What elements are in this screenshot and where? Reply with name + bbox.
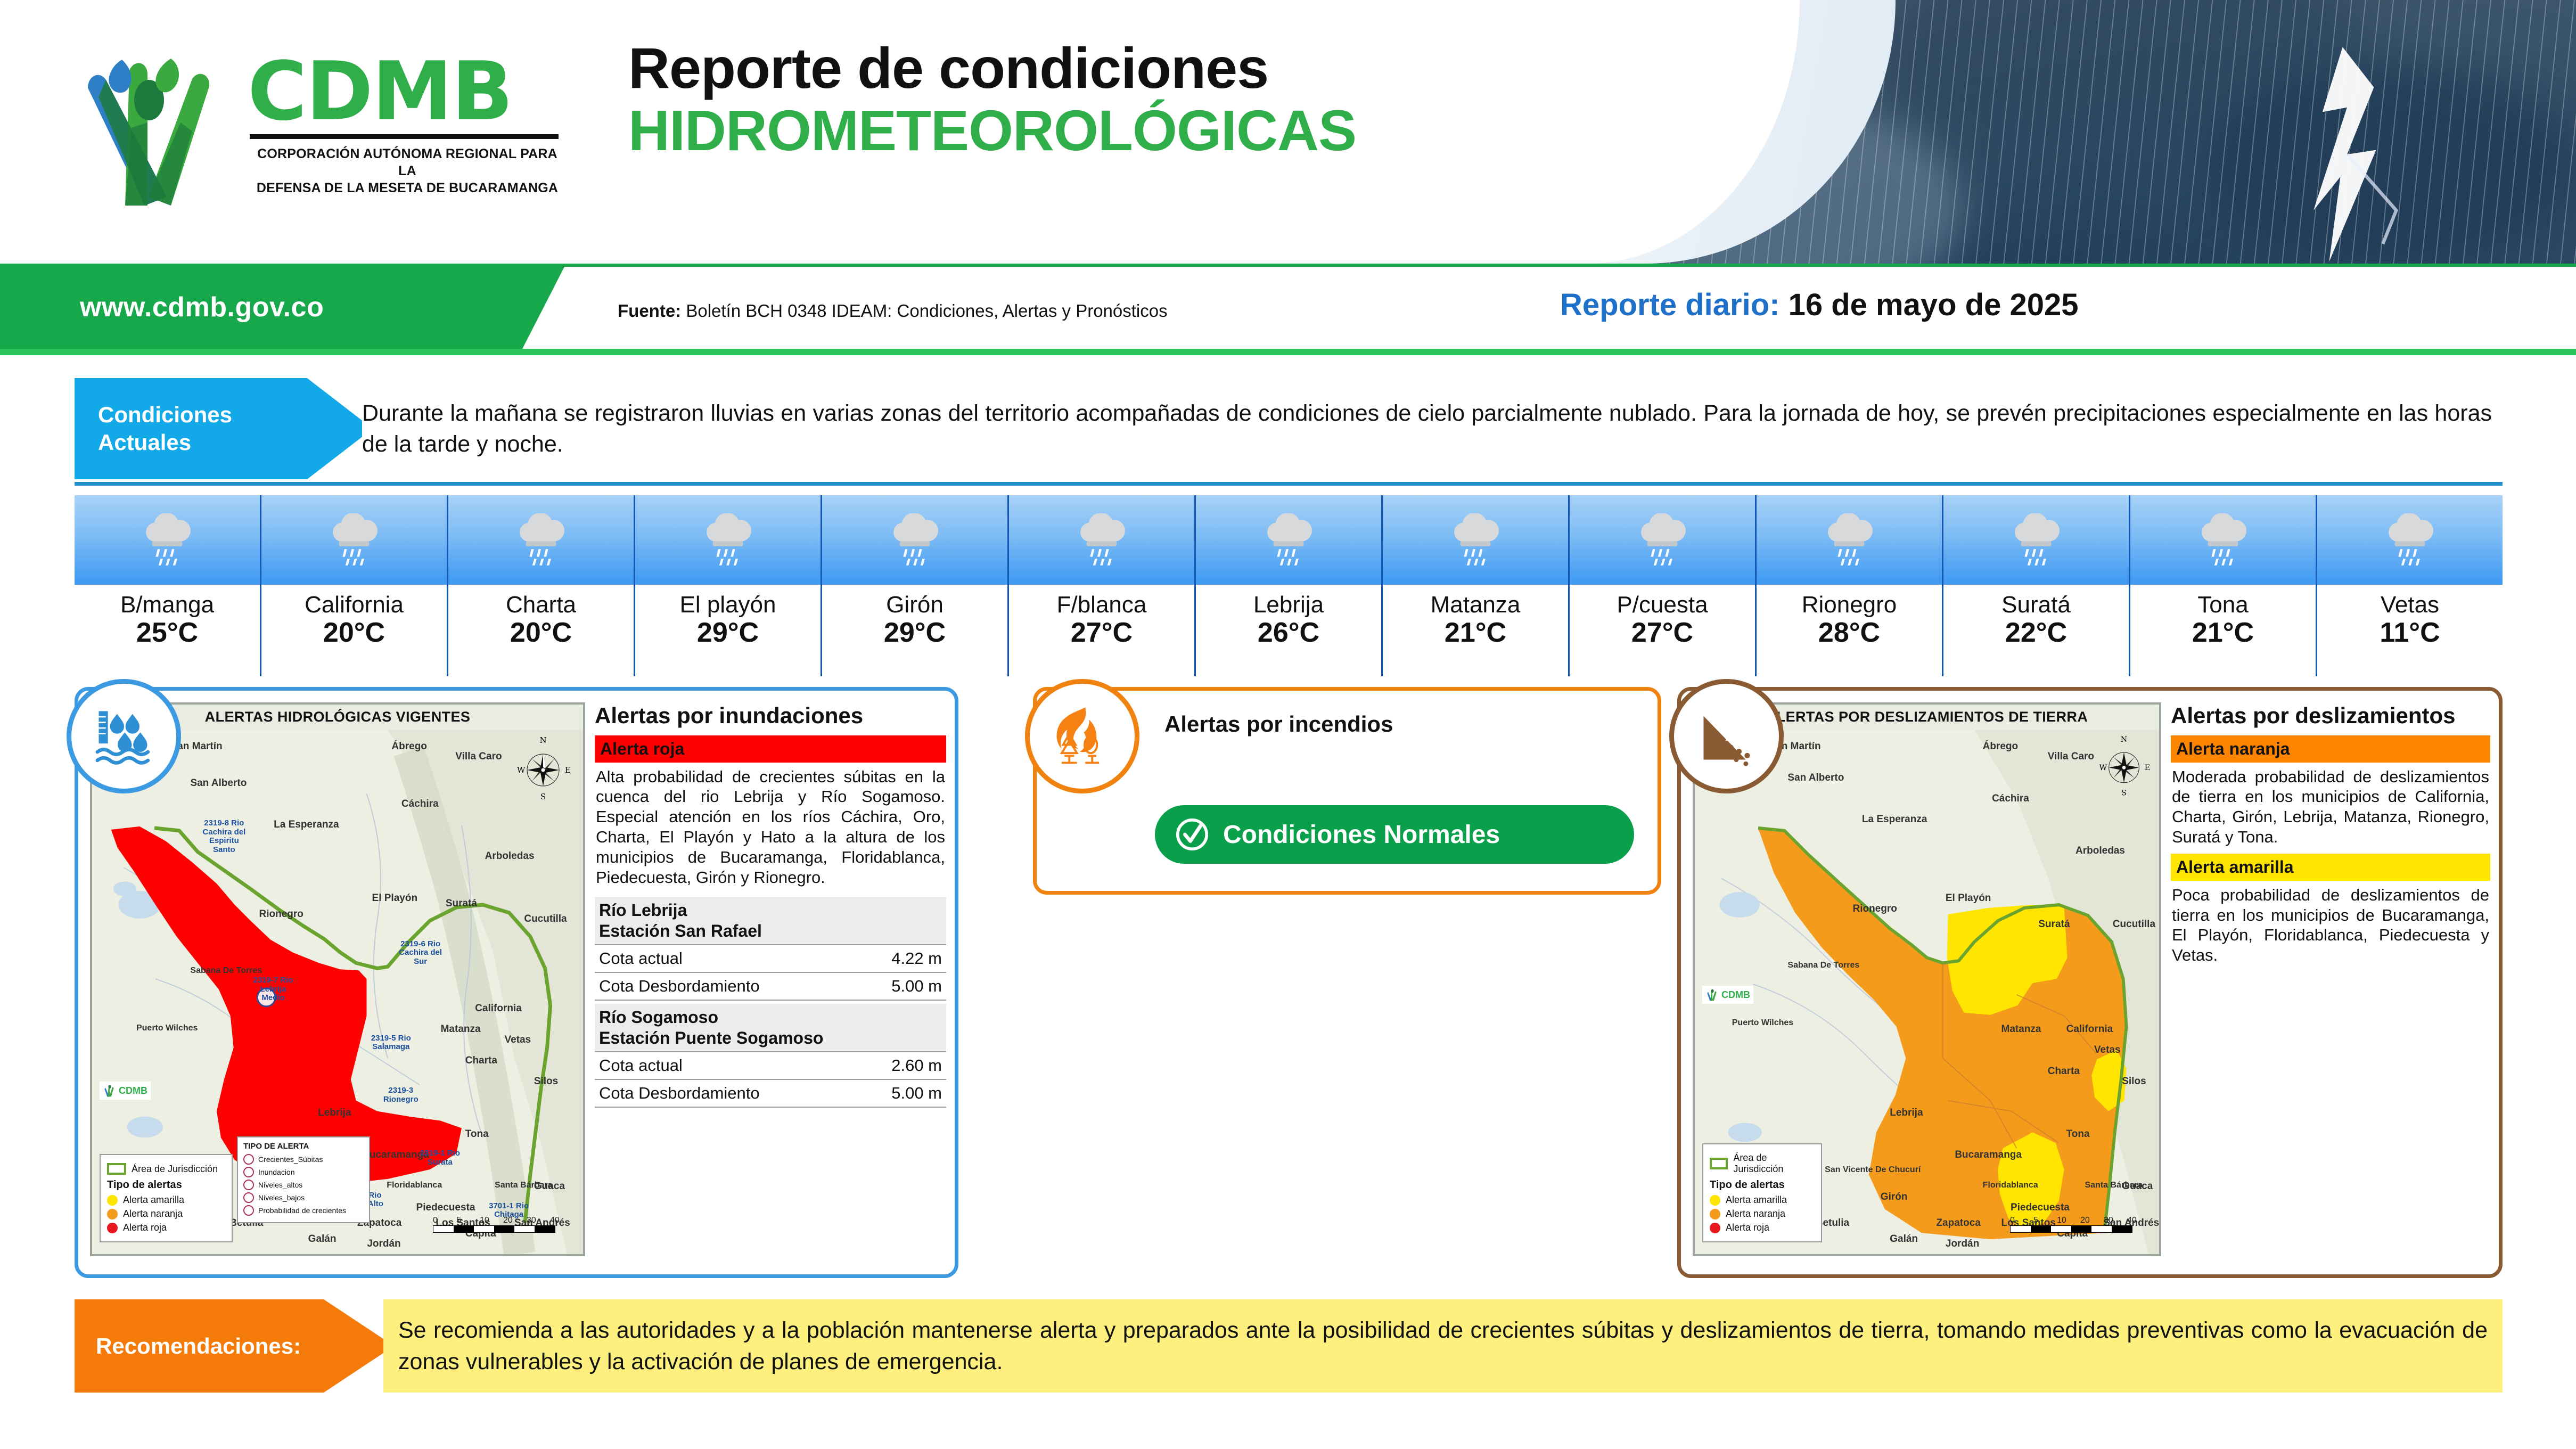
alert-symbol-label: Probabilidad de crecientes — [258, 1206, 346, 1215]
map-place-label: Jordán — [367, 1238, 400, 1250]
map-place-label: California — [2066, 1024, 2113, 1035]
weather-cell-vetas: Vetas11°C — [2317, 495, 2503, 676]
river-measure-value: 5.00 m — [891, 977, 942, 996]
check-circle-icon — [1174, 816, 1210, 853]
river-block: Río SogamosoEstación Puente SogamosoCota… — [595, 1004, 946, 1108]
scalebar-tick: 40 — [550, 1216, 573, 1225]
legend-jurisdiction-row: Área de Jurisdicción — [107, 1163, 225, 1175]
map-place-label: San Vicente De Chucurí — [1825, 1165, 1921, 1175]
legend-types-title: Tipo de alertas — [107, 1179, 225, 1191]
legend-alert-type-label: Alerta roja — [123, 1222, 167, 1233]
map-place-label: Puerto Wilches — [136, 1024, 198, 1033]
alert-type-title: TIPO DE ALERTA — [243, 1142, 364, 1151]
map-place-label: Cucutilla — [524, 913, 567, 925]
landslide-panel-title: Alertas por deslizamientos — [2171, 702, 2490, 729]
forest-fire-icon — [1025, 679, 1139, 793]
map-place-label: Ábrego — [1983, 741, 2019, 752]
weather-city-name: Matanza — [1383, 585, 1568, 618]
source-text: Boletín BCH 0348 IDEAM: Condiciones, Ale… — [686, 301, 1167, 321]
river-name: Río Lebrija — [599, 900, 942, 920]
scalebar-tick: 20 — [2080, 1216, 2104, 1225]
map-place-label: Galán — [1890, 1233, 1918, 1245]
map-place-label: Galán — [308, 1233, 337, 1245]
landslide-map-legend: Área de Jurisdicción Tipo de alertas Ale… — [1702, 1143, 1822, 1242]
current-conditions-tab: Condiciones Actuales — [75, 378, 373, 479]
weather-temperature: 28°C — [1757, 618, 1942, 648]
river-name-station: Río LebrijaEstación San Rafael — [595, 897, 946, 944]
report-date-line: Reporte diario: 16 de mayo de 2025 — [1560, 287, 2079, 323]
legend-color-dot-icon — [1710, 1209, 1720, 1219]
map-place-label: Sabana De Torres — [190, 966, 262, 976]
map-place-label: Suratá — [2038, 919, 2070, 930]
weather-temperature: 27°C — [1009, 618, 1194, 648]
weather-temperature: 11°C — [2317, 618, 2503, 648]
rain-cloud-icon — [448, 495, 634, 585]
map-place-label: Jordán — [1946, 1238, 1979, 1250]
current-conditions-text: Durante la mañana se registraron lluvias… — [362, 398, 2503, 460]
map-place-label: Villa Caro — [2048, 751, 2094, 763]
legend-alert-type-label: Alerta amarilla — [1726, 1194, 1787, 1206]
weather-cell-gir-n: Girón29°C — [822, 495, 1009, 676]
page-header: CDMB CORPORACIÓN AUTÓNOMA REGIONAL PARA … — [0, 0, 2576, 264]
alert-symbol-icon — [243, 1192, 254, 1203]
report-title: Reporte de condiciones HIDROMETEOROLÓGIC… — [628, 37, 1356, 161]
legend-alert-type-label: Alerta roja — [1726, 1222, 1769, 1233]
scalebar-tick: 30 — [2104, 1216, 2127, 1225]
legend-alert-type-label: Alerta naranja — [123, 1208, 183, 1219]
landslide-alert-card: ALERTAS POR DESLIZAMIENTOS DE TIERRA — [1677, 687, 2503, 1278]
map-river-label: 2319-7 Rio Lebrija Medio — [249, 976, 297, 1003]
recommendations-tab-label: Recomendaciones: — [96, 1333, 301, 1359]
map-river-label: 2319-5 Rio Salamaga — [367, 1034, 415, 1052]
svg-text:E: E — [2145, 764, 2150, 772]
weather-temperature: 21°C — [2130, 618, 2316, 648]
weather-city-name: Suratá — [1943, 585, 2129, 618]
current-conditions-section: Condiciones Actuales Durante la mañana s… — [75, 378, 2503, 479]
map-place-label: Matanza — [441, 1024, 481, 1035]
map-place-label: Bucaramanga — [1955, 1149, 2022, 1161]
map-place-label: El Playón — [1946, 893, 1991, 904]
cdmb-logo-mark-icon — [67, 37, 242, 213]
source-label: Fuente: — [618, 301, 681, 321]
current-conditions-tab-line1: Condiciones — [98, 401, 373, 429]
rain-cloud-icon — [75, 495, 260, 585]
scalebar-bar — [433, 1225, 555, 1233]
river-levels-table: Río LebrijaEstación San RafaelCota actua… — [595, 897, 946, 1108]
map-place-label: Piedecuesta — [416, 1202, 475, 1214]
map-place-label: El Playón — [372, 893, 418, 904]
map-place-label: San Alberto — [190, 777, 247, 789]
current-conditions-body: Durante la mañana se registraron lluvias… — [362, 378, 2503, 479]
weather-temperature: 29°C — [822, 618, 1007, 648]
weather-temperature: 25°C — [75, 618, 260, 648]
map-place-label: La Esperanza — [1862, 814, 1927, 825]
alert-symbol-icon — [243, 1154, 254, 1165]
flood-alert-level-badge: Alerta roja — [595, 735, 946, 763]
rain-cloud-icon — [822, 495, 1007, 585]
river-name: Río Sogamoso — [599, 1007, 942, 1027]
rain-cloud-icon — [635, 495, 821, 585]
legend-alert-type-label: Alerta naranja — [1726, 1208, 1785, 1219]
river-measure-label: Cota actual — [599, 1056, 683, 1075]
legend-color-dot-icon — [1710, 1223, 1720, 1233]
legend-jurisdiction-label: Área de Jurisdicción — [132, 1164, 218, 1175]
map-place-label: Villa Caro — [455, 751, 502, 763]
legend-types-title: Tipo de alertas — [1710, 1179, 1815, 1191]
landslide-map-scalebar: 0510203040 — [2010, 1216, 2151, 1233]
legend-alert-type-row: Alerta roja — [107, 1222, 225, 1233]
svg-text:N: N — [2121, 735, 2127, 744]
map-place-label: Vetas — [2094, 1044, 2121, 1056]
weather-temperature: 27°C — [1570, 618, 1755, 648]
hydro-map-scalebar: 0510203040 — [433, 1216, 573, 1233]
water-level-gauge-icon — [67, 679, 181, 793]
map-place-label: Rionegro — [1852, 903, 1897, 915]
legend-color-dot-icon — [107, 1209, 118, 1219]
map-cdmb-watermark: CDMB — [1702, 986, 1753, 1004]
legend-alert-type-row: Alerta roja — [1710, 1222, 1815, 1233]
compass-rose-icon: N S W E — [2096, 734, 2152, 798]
current-conditions-underline — [75, 482, 2503, 486]
map-place-label: San Alberto — [1787, 772, 1844, 784]
fire-status-text: Condiciones Normales — [1223, 820, 1500, 849]
weather-cell-p-cuesta: P/cuesta27°C — [1570, 495, 1757, 676]
map-river-label: 2319-6 Rio Cachira del Sur — [397, 940, 445, 967]
jurisdiction-swatch-icon — [1710, 1158, 1728, 1169]
weather-city-name: P/cuesta — [1570, 585, 1755, 618]
fire-panel-title: Alertas por incendios — [1164, 711, 1393, 738]
legend-alert-symbol-row: Inundacion — [243, 1167, 364, 1177]
recommendations-tab: Recomendaciones: — [75, 1299, 394, 1393]
legend-alert-type-row: Alerta amarilla — [1710, 1194, 1815, 1206]
jurisdiction-swatch-icon — [107, 1163, 126, 1175]
map-place-label: Zapatoca — [1936, 1217, 1980, 1229]
map-place-label: Guaca — [2122, 1181, 2153, 1192]
weather-city-name: F/blanca — [1009, 585, 1194, 618]
flood-alert-panel: Alertas por inundaciones Alerta roja Alt… — [595, 702, 946, 1262]
map-place-label: Lebrija — [1890, 1107, 1923, 1119]
scalebar-tick: 10 — [480, 1216, 503, 1225]
river-measure-label: Cota Desbordamiento — [599, 1084, 760, 1103]
weather-city-name: Charta — [448, 585, 634, 618]
map-place-label: Charta — [2048, 1066, 2080, 1077]
alert-symbol-label: Niveles_altos — [258, 1181, 302, 1189]
scalebar-bar — [2010, 1225, 2132, 1233]
river-measure-value: 2.60 m — [891, 1056, 942, 1075]
weather-city-name: Lebrija — [1196, 585, 1381, 618]
landslide-alert-text: Moderada probabilidad de deslizamientos … — [2171, 763, 2490, 854]
hydro-map-legend: Área de Jurisdicción Tipo de alertas Ale… — [100, 1154, 233, 1242]
landslide-alerts-map[interactable]: ALERTAS POR DESLIZAMIENTOS DE TIERRA — [1693, 702, 2161, 1256]
map-place-label: La Esperanza — [274, 819, 339, 831]
map-river-label: 2319-1 Rio Surata — [416, 1149, 464, 1167]
map-place-label: Sabana De Torres — [1787, 961, 1859, 970]
landslide-alert-level-badge: Alerta naranja — [2171, 735, 2490, 763]
recommendations-body: Se recomienda a las autoridades y a la p… — [383, 1299, 2503, 1393]
flood-panel-title: Alertas por inundaciones — [595, 702, 946, 729]
alert-symbol-label: Crecientes_Súbitas — [258, 1155, 323, 1164]
legend-alert-symbol-row: Crecientes_Súbitas — [243, 1154, 364, 1165]
map-place-label: Vetas — [504, 1034, 531, 1046]
legend-alert-type-label: Alerta amarilla — [123, 1194, 184, 1206]
map-place-label: Guaca — [534, 1181, 565, 1192]
svg-text:N: N — [539, 735, 546, 745]
river-measure-row: Cota actual4.22 m — [595, 944, 946, 973]
weather-city-name: El playón — [635, 585, 821, 618]
map-place-label: Cáchira — [401, 798, 439, 810]
flood-alert-card: ALERTAS HIDROLÓGICAS VIGENTES — [75, 687, 958, 1278]
scalebar-tick: 5 — [456, 1216, 480, 1225]
map-place-label: Lebrija — [318, 1107, 351, 1119]
scalebar-tick: 5 — [2033, 1216, 2057, 1225]
map-place-label: Silos — [2122, 1076, 2146, 1087]
landslide-alert-entry: Alerta amarillaPoca probabilidad de desl… — [2171, 854, 2490, 972]
logo-subtitle-line1: CORPORACIÓN AUTÓNOMA REGIONAL PARA LA — [248, 145, 567, 179]
legend-alert-type-row: Alerta amarilla — [107, 1194, 225, 1206]
map-place-label: Girón — [1881, 1191, 1908, 1203]
rain-cloud-icon — [1757, 495, 1942, 585]
weather-cell-matanza: Matanza21°C — [1383, 495, 1570, 676]
river-station: Estación Puente Sogamoso — [599, 1028, 942, 1048]
ribbon-bottom-stripe — [0, 349, 2576, 355]
map-place-label: Charta — [465, 1055, 497, 1067]
weather-city-name: Vetas — [2317, 585, 2503, 618]
lightning-bolt-icon — [2278, 43, 2416, 264]
river-measure-value: 4.22 m — [891, 949, 942, 968]
legend-jurisdiction-row: Área de Jurisdicción — [1710, 1152, 1815, 1175]
cdmb-logo: CDMB CORPORACIÓN AUTÓNOMA REGIONAL PARA … — [67, 37, 546, 224]
river-block: Río LebrijaEstación San RafaelCota actua… — [595, 897, 946, 1001]
weather-temperature: 29°C — [635, 618, 821, 648]
landslide-map-canvas: N S W E San MartínSan AlbertoÁbreg — [1695, 730, 2159, 1254]
svg-text:S: S — [540, 792, 546, 801]
legend-jurisdiction-label: Área de Jurisdicción — [1733, 1152, 1815, 1175]
map-place-label: Tona — [2066, 1128, 2090, 1140]
weather-temperature: 26°C — [1196, 618, 1381, 648]
weather-city-name: Tona — [2130, 585, 2316, 618]
map-place-label: Piedecuesta — [2011, 1202, 2070, 1214]
legend-color-dot-icon — [1710, 1195, 1720, 1206]
map-place-label: Floridablanca — [387, 1181, 442, 1190]
legend-alert-type-row: Alerta naranja — [107, 1208, 225, 1219]
hydrological-alerts-map[interactable]: ALERTAS HIDROLÓGICAS VIGENTES — [90, 702, 585, 1256]
rain-cloud-icon — [261, 495, 447, 585]
landslide-alert-text: Poca probabilidad de deslizamientos de t… — [2171, 881, 2490, 972]
river-measure-label: Cota actual — [599, 949, 683, 968]
compass-rose-icon: N S W E — [514, 735, 572, 802]
rain-cloud-icon — [1570, 495, 1755, 585]
river-name-station: Río SogamosoEstación Puente Sogamoso — [595, 1004, 946, 1051]
rain-cloud-icon — [1196, 495, 1381, 585]
river-measure-row: Cota actual2.60 m — [595, 1051, 946, 1080]
scalebar-tick: 30 — [527, 1216, 550, 1225]
fire-alert-card: Alertas por incendios Condiciones Normal… — [1033, 687, 1661, 895]
alert-symbol-label: Niveles_bajos — [258, 1193, 305, 1202]
rain-cloud-icon — [1383, 495, 1568, 585]
hydro-map-canvas: N S W E San MartínS — [92, 730, 583, 1254]
weather-temperature: 22°C — [1943, 618, 2129, 648]
recommendations-section: Recomendaciones: Se recomienda a las aut… — [75, 1299, 2503, 1393]
scalebar-tick: 0 — [433, 1216, 456, 1225]
weather-cell-f-blanca: F/blanca27°C — [1009, 495, 1196, 676]
weather-temperature: 20°C — [261, 618, 447, 648]
rain-cloud-icon — [1943, 495, 2129, 585]
weather-city-name: California — [261, 585, 447, 618]
river-station: Estación San Rafael — [599, 921, 942, 941]
map-place-label: Arboledas — [2075, 845, 2125, 857]
weather-cell-surat-: Suratá22°C — [1943, 495, 2130, 676]
report-date-label: Reporte diario: — [1560, 288, 1780, 322]
weather-cell-el-play-n: El playón29°C — [635, 495, 822, 676]
river-measure-row: Cota Desbordamiento5.00 m — [595, 1080, 946, 1108]
svg-text:W: W — [517, 765, 526, 775]
map-place-label: Cucutilla — [2113, 919, 2155, 930]
map-place-label: Tona — [465, 1128, 489, 1140]
landslide-alert-entry: Alerta naranjaModerada probabilidad de d… — [2171, 735, 2490, 854]
alert-symbol-icon — [243, 1167, 254, 1177]
weather-cell-california: California20°C — [261, 495, 448, 676]
legend-alert-symbol-row: Probabilidad de crecientes — [243, 1205, 364, 1216]
landslide-alert-level-badge: Alerta amarilla — [2171, 854, 2490, 881]
alert-symbol-label: Inundacion — [258, 1168, 295, 1176]
svg-text:S: S — [2121, 789, 2127, 797]
river-measure-row: Cota Desbordamiento5.00 m — [595, 973, 946, 1001]
weather-strip: B/manga25°C California20°C Charta20°C El… — [75, 495, 2503, 676]
map-place-label: Suratá — [446, 898, 477, 910]
map-cdmb-watermark: CDMB — [100, 1082, 151, 1100]
landslide-icon — [1669, 679, 1784, 793]
scalebar-tick: 0 — [2010, 1216, 2033, 1225]
legend-color-dot-icon — [107, 1195, 118, 1206]
rain-cloud-icon — [2130, 495, 2316, 585]
flood-alert-text: Alta probabilidad de crecientes súbitas … — [595, 763, 946, 894]
weather-city-name: Girón — [822, 585, 1007, 618]
map-place-label: Cáchira — [1992, 793, 2029, 805]
map-place-label: California — [475, 1003, 522, 1014]
rain-cloud-icon — [2317, 495, 2503, 585]
map-river-label: 2319-8 Rio Cachira del Espiritu Santo — [200, 819, 248, 854]
river-measure-value: 5.00 m — [891, 1084, 942, 1103]
weather-temperature: 21°C — [1383, 618, 1568, 648]
river-measure-label: Cota Desbordamiento — [599, 977, 760, 996]
alert-symbol-icon — [243, 1180, 254, 1190]
map-place-label: Arboledas — [485, 850, 535, 862]
map-place-label: Matanza — [2001, 1024, 2041, 1035]
weather-cell-rionegro: Rionegro28°C — [1757, 495, 1943, 676]
weather-temperature: 20°C — [448, 618, 634, 648]
map-place-label: Puerto Wilches — [1732, 1018, 1793, 1028]
weather-cell-lebrija: Lebrija26°C — [1196, 495, 1383, 676]
scalebar-tick: 20 — [503, 1216, 527, 1225]
legend-color-dot-icon — [107, 1223, 118, 1233]
weather-city-name: B/manga — [75, 585, 260, 618]
logo-wordmark: CDMB — [248, 53, 567, 130]
map-river-label: 2319-3 Rionegro — [377, 1086, 425, 1104]
weather-city-name: Rionegro — [1757, 585, 1942, 618]
map-place-label: Ábrego — [391, 741, 427, 752]
report-title-line2: HIDROMETEOROLÓGICAS — [628, 100, 1356, 162]
weather-cell-tona: Tona21°C — [2130, 495, 2317, 676]
landslide-alert-panel: Alertas por deslizamientos Alerta naranj… — [2171, 702, 2490, 1262]
rain-cloud-icon — [1009, 495, 1194, 585]
svg-text:W: W — [2099, 764, 2107, 772]
info-ribbon: www.cdmb.gov.co Fuente: Boletín BCH 0348… — [0, 264, 2576, 354]
fire-status-badge: Condiciones Normales — [1155, 805, 1634, 864]
report-date-value: 16 de mayo de 2025 — [1789, 288, 2079, 322]
svg-text:E: E — [565, 765, 571, 775]
logo-subtitle-line2: DEFENSA DE LA MESETA DE BUCARAMANGA — [248, 179, 567, 197]
alert-symbol-icon — [243, 1205, 254, 1216]
website-url[interactable]: www.cdmb.gov.co — [80, 291, 324, 323]
current-conditions-tab-line2: Actuales — [98, 429, 373, 457]
map-place-label: Floridablanca — [1983, 1181, 2038, 1190]
source-line: Fuente: Boletín BCH 0348 IDEAM: Condicio… — [618, 301, 1168, 321]
report-title-line1: Reporte de condiciones — [628, 37, 1356, 100]
legend-alert-symbol-row: Niveles_altos — [243, 1180, 364, 1190]
scalebar-tick: 10 — [2057, 1216, 2080, 1225]
weather-cell-charta: Charta20°C — [448, 495, 635, 676]
weather-cell-b-manga: B/manga25°C — [75, 495, 261, 676]
legend-alert-symbol-row: Niveles_bajos — [243, 1192, 364, 1203]
map-place-label: Silos — [534, 1076, 558, 1087]
alerts-row: ALERTAS HIDROLÓGICAS VIGENTES — [75, 687, 2503, 1278]
scalebar-tick: 40 — [2127, 1216, 2151, 1225]
recommendations-text: Se recomienda a las autoridades y a la p… — [398, 1315, 2488, 1377]
legend-alert-type-row: Alerta naranja — [1710, 1208, 1815, 1219]
map-place-label: Rionegro — [259, 908, 303, 920]
hydro-map-alert-type-legend: TIPO DE ALERTA Crecientes_SúbitasInundac… — [237, 1136, 370, 1223]
